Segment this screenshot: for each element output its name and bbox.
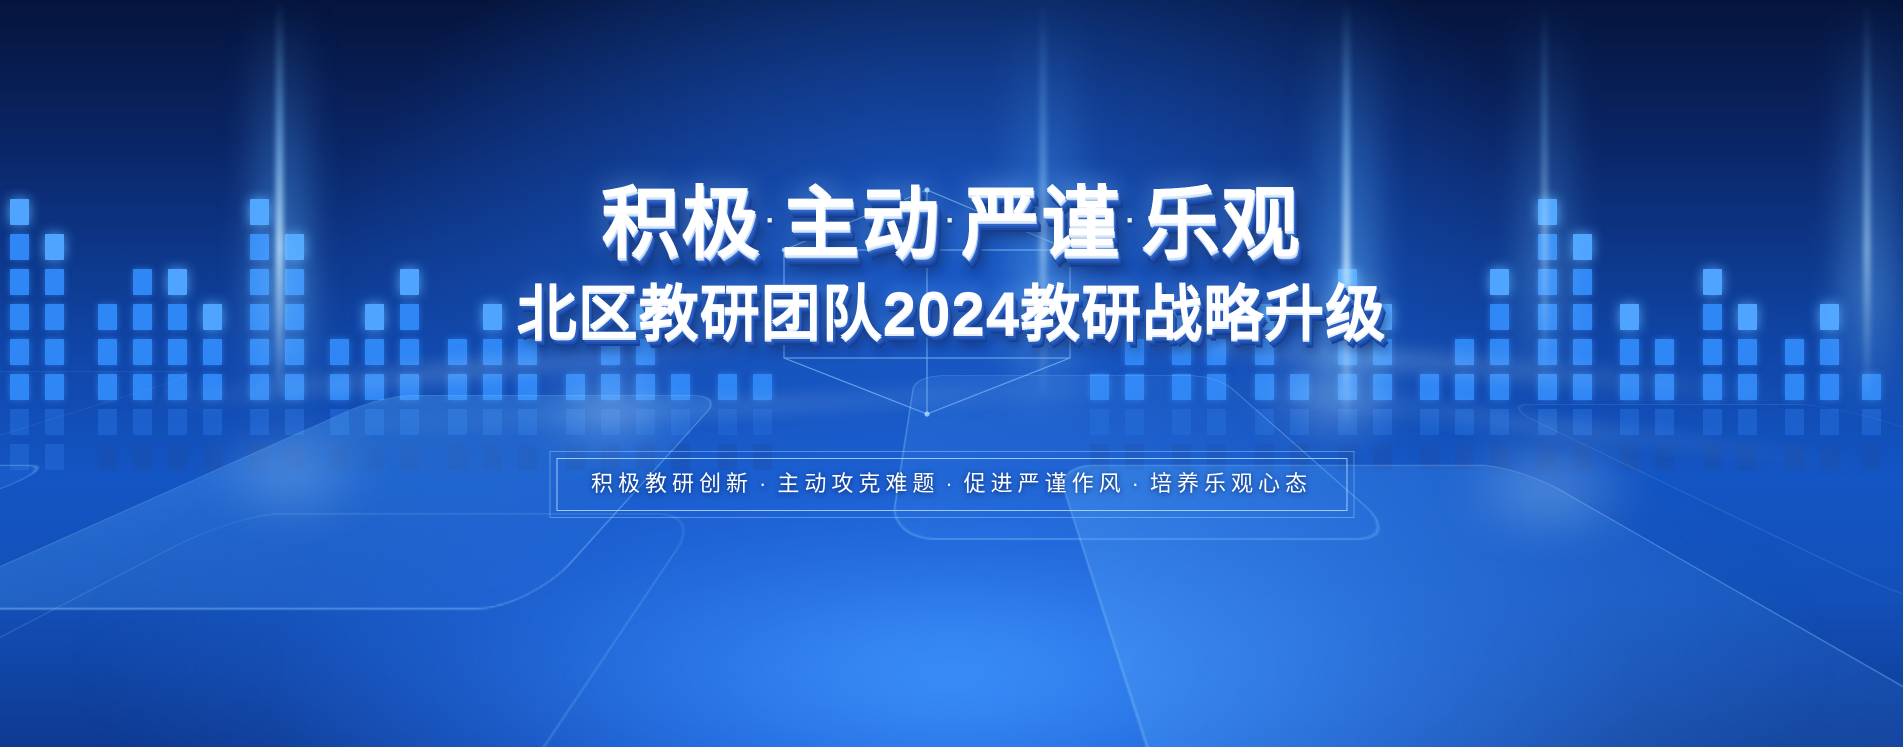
skyline-column: [483, 190, 502, 470]
skyline-column: [133, 205, 152, 470]
skyline-column: [1703, 140, 1722, 470]
tagline-frame: 积极教研创新·主动攻克难题·促进严谨作风·培养乐观心态: [556, 458, 1347, 511]
skyline-column: [1172, 170, 1191, 470]
skyline-column: [1255, 180, 1274, 470]
skyline-column: [1620, 170, 1639, 470]
main-title-segment-2: 主动: [781, 179, 941, 267]
skyline-column: [753, 220, 772, 470]
skyline-column: [250, 120, 269, 470]
skyline-column: [636, 170, 655, 470]
main-title-segment-3: 严谨: [962, 179, 1122, 267]
title-separator-dot: ·: [1126, 174, 1138, 268]
skyline-column: [365, 205, 384, 470]
skyline-column: [518, 215, 537, 470]
skyline-column: [1655, 200, 1674, 470]
skyline-column: [601, 210, 620, 470]
skyline-column: [45, 160, 64, 470]
title-separator-dot: ·: [946, 174, 958, 268]
tagline-item-1: 积极教研创新: [591, 471, 753, 496]
tagline-text: 积极教研创新·主动攻克难题·促进严谨作风·培养乐观心态: [591, 469, 1312, 499]
main-title: 积极·主动·严谨·乐观: [0, 176, 1903, 276]
tagline-separator: ·: [945, 471, 957, 496]
skyline-column: [1785, 205, 1804, 470]
skyline-column: [168, 180, 187, 470]
tagline-item-3: 促进严谨作风: [964, 471, 1126, 496]
skyline-column: [671, 230, 690, 470]
skyline-column: [400, 170, 419, 470]
tagline-item-2: 主动攻克难题: [777, 471, 939, 496]
banner-root: 积极·主动·严谨·乐观 北区教研团队2024教研战略升级 积极教研创新·主动攻克…: [0, 0, 1903, 747]
skyline-column: [1373, 185, 1392, 470]
skyline-column: [1338, 160, 1357, 470]
skyline-column: [98, 220, 117, 470]
skyline-column: [1207, 205, 1226, 470]
main-title-segment-1: 积极: [601, 179, 761, 267]
skyline-column: [1862, 220, 1881, 470]
hexagon-wireframe: [772, 182, 1082, 422]
skyline-column: [1538, 110, 1557, 470]
skyline-column: [1820, 180, 1839, 470]
title-separator-dot: ·: [765, 174, 777, 268]
skyline-column: [285, 135, 304, 470]
skyline-column: [1738, 170, 1757, 470]
skyline-column: [1090, 225, 1109, 470]
skyline-column: [330, 240, 349, 470]
skyline-column: [1290, 220, 1309, 470]
skyline-column: [203, 200, 222, 470]
skyline-column: [10, 130, 29, 470]
tagline-separator: ·: [759, 471, 771, 496]
pixel-skyline: [0, 0, 1903, 470]
skyline-column: [448, 222, 467, 470]
tagline-separator: ·: [1132, 471, 1144, 496]
tagline-item-4: 培养乐观心态: [1150, 471, 1312, 496]
subtitle: 北区教研团队2024教研战略升级: [0, 276, 1903, 352]
skyline-column: [1490, 140, 1509, 470]
skyline-column: [1573, 125, 1592, 470]
perspective-floor-panels: [0, 327, 1903, 747]
skyline-column: [718, 245, 737, 470]
skyline-column: [1125, 195, 1144, 470]
main-title-segment-4: 乐观: [1142, 179, 1302, 267]
skyline-column: [566, 240, 585, 470]
banner-content: 积极·主动·严谨·乐观 北区教研团队2024教研战略升级 积极教研创新·主动攻克…: [0, 0, 1903, 747]
tagline-container: 积极教研创新·主动攻克难题·促进严谨作风·培养乐观心态: [554, 456, 1349, 513]
skyline-column: [1420, 215, 1439, 470]
skyline-column: [1455, 185, 1474, 470]
